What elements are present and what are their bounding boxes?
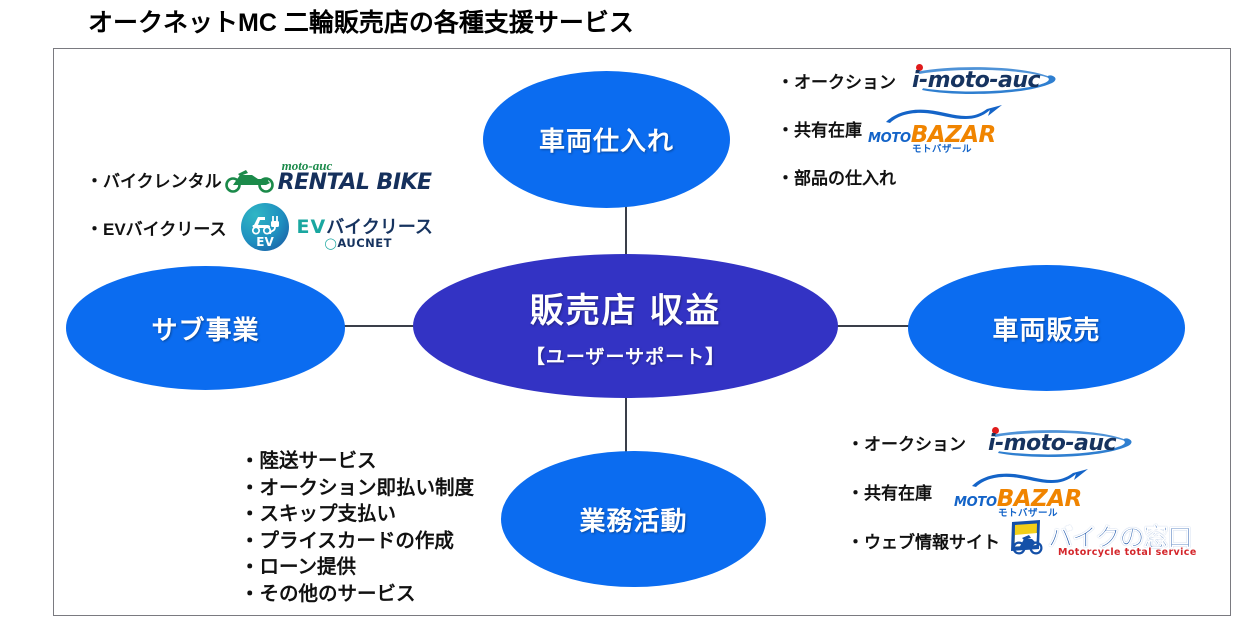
i-moto-auc-logo: i-moto-auc bbox=[982, 426, 1134, 460]
node-business-activity[interactable]: 業務活動 bbox=[501, 451, 766, 587]
list-business-activity-services: ・陸送サービス ・オークション即払い制度 ・スキップ支払い ・プライスカードの作… bbox=[240, 448, 474, 607]
list-item-label: ・オークション bbox=[777, 68, 896, 93]
ev-bike-lease-logo: EV EVバイクリース ◯AUCNET bbox=[241, 201, 427, 253]
list-item: ・オークション i-moto-auc bbox=[777, 57, 1058, 103]
list-item: ・共有在庫 MOTOBAZAR モトバザール bbox=[777, 103, 1058, 153]
node-center-main-label: 販売店 収益 bbox=[530, 283, 721, 332]
ev-bike-lease-ev-text: EV bbox=[297, 216, 327, 238]
list-item: ・オークション即払い制度 bbox=[240, 475, 474, 502]
ev-bike-lease-badge-icon: EV bbox=[241, 203, 289, 251]
node-vehicle-purchase-label: 車両仕入れ bbox=[539, 121, 674, 158]
list-item: ・オークション i-moto-auc bbox=[847, 418, 1182, 467]
list-item: ・陸送サービス bbox=[240, 448, 474, 475]
node-center-dealer-revenue[interactable]: 販売店 収益 【ユーザーサポート】 bbox=[413, 254, 838, 398]
svg-text:EV: EV bbox=[256, 235, 274, 249]
list-item: ・バイクレンタル moto-auc RENTAL BIKE bbox=[86, 155, 427, 203]
aucnet-label: AUCNET bbox=[337, 236, 392, 250]
list-item: ・EVバイクリース EV EVバイクリース ◯AUCNET bbox=[86, 203, 427, 251]
rental-bike-logo: moto-auc RENTAL BIKE bbox=[224, 159, 420, 199]
list-item-label: ・ウェブ情報サイト bbox=[847, 528, 1000, 553]
moto-bazar-moto-text: MOTO bbox=[868, 131, 911, 146]
list-item-label: ・部品の仕入れ bbox=[777, 164, 896, 189]
connector-center-right bbox=[836, 325, 910, 327]
list-vehicle-purchase-services: ・オークション i-moto-auc ・共有在庫 MOTOBAZAR モトバザー… bbox=[777, 57, 1058, 199]
node-sub-business-label: サブ事業 bbox=[151, 310, 259, 347]
ev-bike-lease-kana-text: バイクリース bbox=[326, 217, 433, 238]
list-item-label: ・オークション bbox=[847, 430, 966, 455]
list-item: ・ローン提供 bbox=[240, 554, 474, 581]
moto-bazar-logo: MOTOBAZAR モトバザール bbox=[868, 105, 1018, 151]
i-moto-auc-wordmark: i-moto-auc bbox=[988, 431, 1116, 456]
bike-madoguchi-logo: バイクの窓口 Motorcycle total service bbox=[1006, 517, 1182, 565]
list-item: ・部品の仕入れ bbox=[777, 153, 1058, 199]
list-item: ・ウェブ情報サイト バイクの窓口 Motorcycle total servic… bbox=[847, 516, 1182, 565]
rental-bike-wordmark: RENTAL BIKE bbox=[278, 170, 432, 195]
page-title: オークネットMC 二輪販売店の各種支援サービス bbox=[88, 3, 634, 39]
i-moto-auc-logo: i-moto-auc bbox=[906, 63, 1058, 97]
list-item-label: ・バイクレンタル bbox=[86, 167, 222, 192]
aucnet-brand-text: ◯AUCNET bbox=[325, 236, 392, 250]
node-center-sub-label: 【ユーザーサポート】 bbox=[526, 342, 725, 369]
moto-bazar-logo: MOTOBAZAR モトバザール bbox=[954, 469, 1104, 515]
node-vehicle-sales-label: 車両販売 bbox=[992, 310, 1100, 347]
connector-center-left bbox=[343, 325, 415, 327]
connector-center-top bbox=[625, 203, 627, 256]
node-sub-business[interactable]: サブ事業 bbox=[66, 266, 345, 390]
node-business-activity-label: 業務活動 bbox=[579, 501, 687, 538]
bike-madoguchi-tagline: Motorcycle total service bbox=[1058, 547, 1197, 558]
moto-bazar-moto-text: MOTO bbox=[954, 495, 997, 510]
connector-center-bottom bbox=[625, 396, 627, 454]
list-item: ・共有在庫 MOTOBAZAR モトバザール bbox=[847, 467, 1182, 516]
node-vehicle-purchase[interactable]: 車両仕入れ bbox=[483, 71, 730, 208]
moto-bazar-kana-text: モトバザール bbox=[912, 141, 972, 155]
list-item-label: ・共有在庫 bbox=[847, 479, 932, 504]
list-item: ・スキップ支払い bbox=[240, 501, 474, 528]
bike-madoguchi-icon bbox=[1006, 519, 1044, 561]
list-item-label: ・EVバイクリース bbox=[86, 215, 227, 240]
list-item-label: ・共有在庫 bbox=[777, 116, 862, 141]
list-vehicle-sales-services: ・オークション i-moto-auc ・共有在庫 MOTOBAZAR モトバザー… bbox=[847, 418, 1182, 565]
aucnet-swirl-icon: ◯ bbox=[325, 237, 338, 250]
i-moto-auc-wordmark: i-moto-auc bbox=[912, 68, 1040, 93]
node-vehicle-sales[interactable]: 車両販売 bbox=[908, 265, 1185, 391]
list-item: ・プライスカードの作成 bbox=[240, 528, 474, 555]
list-item: ・その他のサービス bbox=[240, 581, 474, 608]
list-sub-business-services: ・バイクレンタル moto-auc RENTAL BIKE ・EVバイクリース bbox=[86, 155, 427, 251]
